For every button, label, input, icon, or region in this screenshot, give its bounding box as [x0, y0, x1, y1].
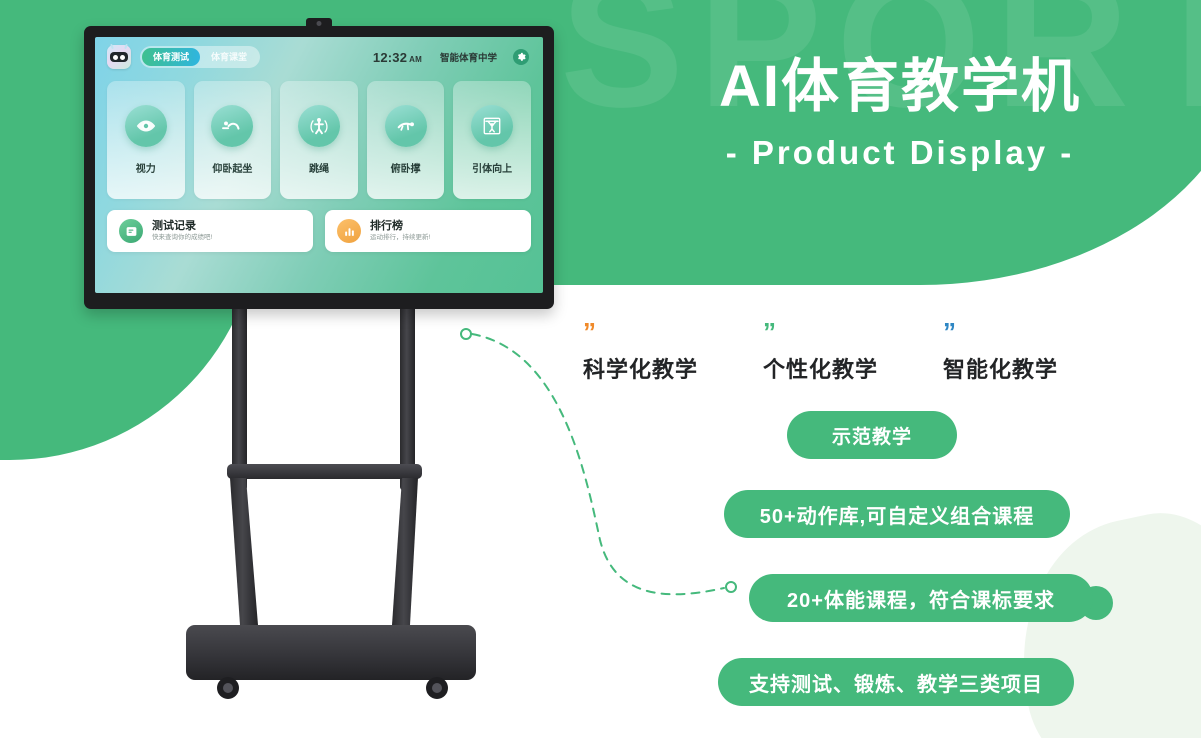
- records-document-icon: [119, 219, 143, 243]
- screen-bottom-cards: 测试记录 快来查询你的成绩吧!: [95, 199, 543, 252]
- app-card-jumprope[interactable]: 跳绳: [280, 81, 358, 199]
- app-card-label: 仰卧起坐: [212, 160, 252, 175]
- school-name: 智能体育中学: [440, 50, 497, 64]
- screen-tab-group: 体育测试 体育课堂: [140, 46, 260, 68]
- app-card-grid: 视力 仰卧起坐: [95, 77, 543, 199]
- tab-sports-classroom[interactable]: 体育课堂: [200, 48, 258, 66]
- clock: 12:32AM: [373, 50, 422, 65]
- app-card-situp[interactable]: 仰卧起坐: [194, 81, 272, 199]
- pushup-icon: [385, 105, 427, 147]
- card-text-block: 测试记录 快来查询你的成绩吧!: [152, 220, 212, 242]
- app-card-pushup[interactable]: 俯卧撑: [367, 81, 445, 199]
- clock-meridiem: AM: [409, 55, 422, 64]
- app-card-pullup[interactable]: 引体向上: [453, 81, 531, 199]
- card-text-block: 排行榜 运动排行，持续更新!: [370, 220, 430, 242]
- product-display-poster: SPORTS AI体育教学机 - Product Display -: [0, 0, 1201, 738]
- app-card-vision[interactable]: 视力: [107, 81, 185, 199]
- jump-rope-icon: [298, 105, 340, 147]
- gear-icon[interactable]: [513, 49, 529, 65]
- robot-face: [110, 52, 128, 62]
- card-title: 排行榜: [370, 220, 430, 232]
- app-card-label: 引体向上: [472, 160, 512, 175]
- camera-icon: [306, 18, 332, 27]
- pullup-icon: [471, 105, 513, 147]
- card-subtitle: 快来查询你的成绩吧!: [152, 234, 212, 242]
- card-test-records[interactable]: 测试记录 快来查询你的成绩吧!: [107, 210, 313, 252]
- eye-icon: [125, 105, 167, 147]
- card-leaderboard[interactable]: 排行榜 运动排行，持续更新!: [325, 210, 531, 252]
- tab-sports-test[interactable]: 体育测试: [142, 48, 200, 66]
- screen-topbar: 体育测试 体育课堂 12:32AM 智能体育中学: [95, 37, 543, 77]
- display-bezel: 体育测试 体育课堂 12:32AM 智能体育中学: [84, 26, 554, 309]
- app-card-label: 跳绳: [309, 160, 329, 175]
- card-subtitle: 运动排行，持续更新!: [370, 234, 430, 242]
- card-title: 测试记录: [152, 220, 212, 232]
- display-device: 体育测试 体育课堂 12:32AM 智能体育中学: [84, 26, 554, 309]
- app-card-label: 视力: [136, 160, 156, 175]
- display-screen: 体育测试 体育课堂 12:32AM 智能体育中学: [95, 37, 543, 293]
- app-card-label: 俯卧撑: [391, 160, 421, 175]
- situp-icon: [211, 105, 253, 147]
- robot-antenna-right: [124, 44, 128, 49]
- bar-chart-icon: [337, 219, 361, 243]
- robot-avatar-icon[interactable]: [107, 45, 131, 69]
- clock-time: 12:32: [373, 50, 407, 65]
- robot-antenna-left: [110, 44, 114, 49]
